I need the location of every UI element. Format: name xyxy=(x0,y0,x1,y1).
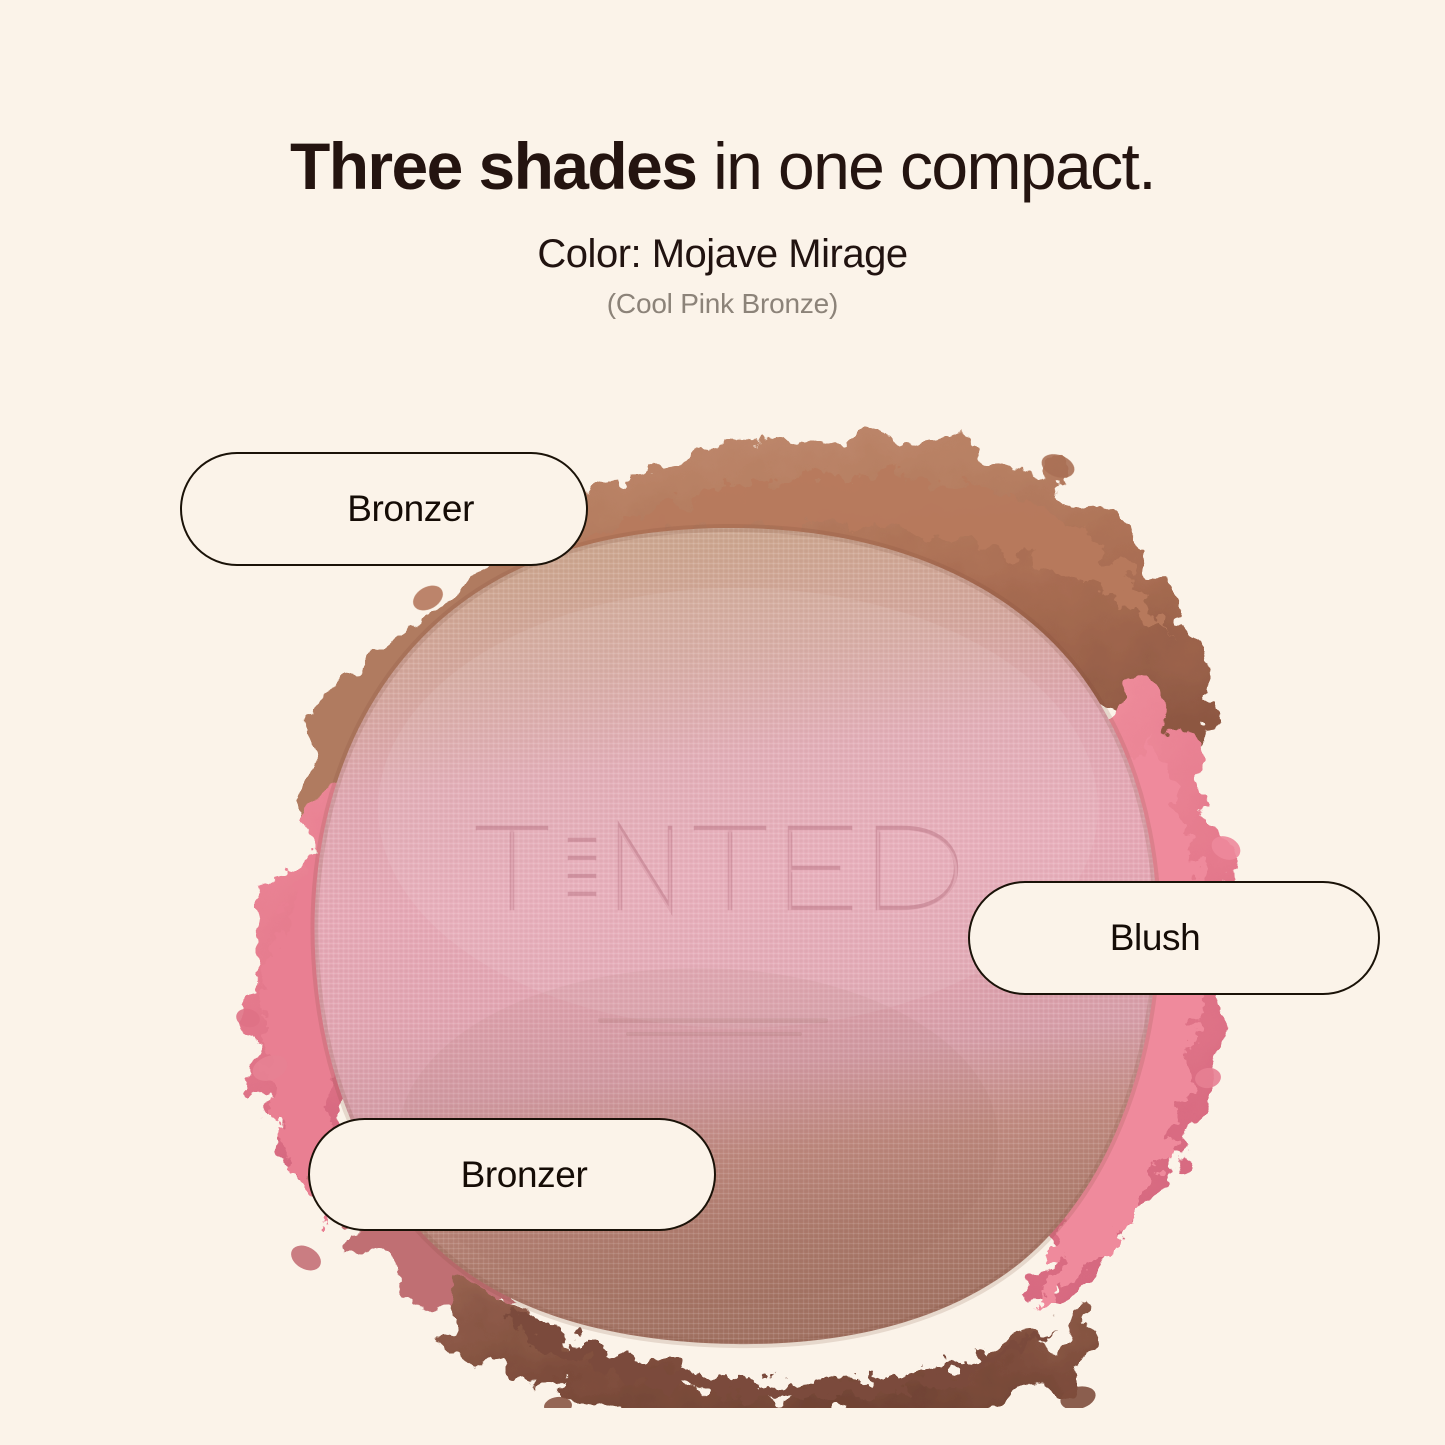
headline-rest: in one compact. xyxy=(696,129,1155,203)
product-marketing-image: Three shades in one compact. Color: Moja… xyxy=(0,0,1445,1445)
callout-blush[interactable]: Blush xyxy=(968,881,1380,995)
product-color-description: (Cool Pink Bronze) xyxy=(0,288,1445,320)
callout-bronzer-top[interactable]: Bronzer xyxy=(180,452,588,566)
callout-label: Bronzer xyxy=(347,488,474,530)
callout-label: Bronzer xyxy=(461,1154,588,1196)
headline-emphasis: Three shades xyxy=(290,129,696,203)
page-title: Three shades in one compact. xyxy=(0,132,1445,202)
callout-label: Blush xyxy=(1110,917,1201,959)
product-color-name: Color: Mojave Mirage xyxy=(0,232,1445,277)
callout-bronzer-bottom[interactable]: Bronzer xyxy=(308,1118,716,1231)
